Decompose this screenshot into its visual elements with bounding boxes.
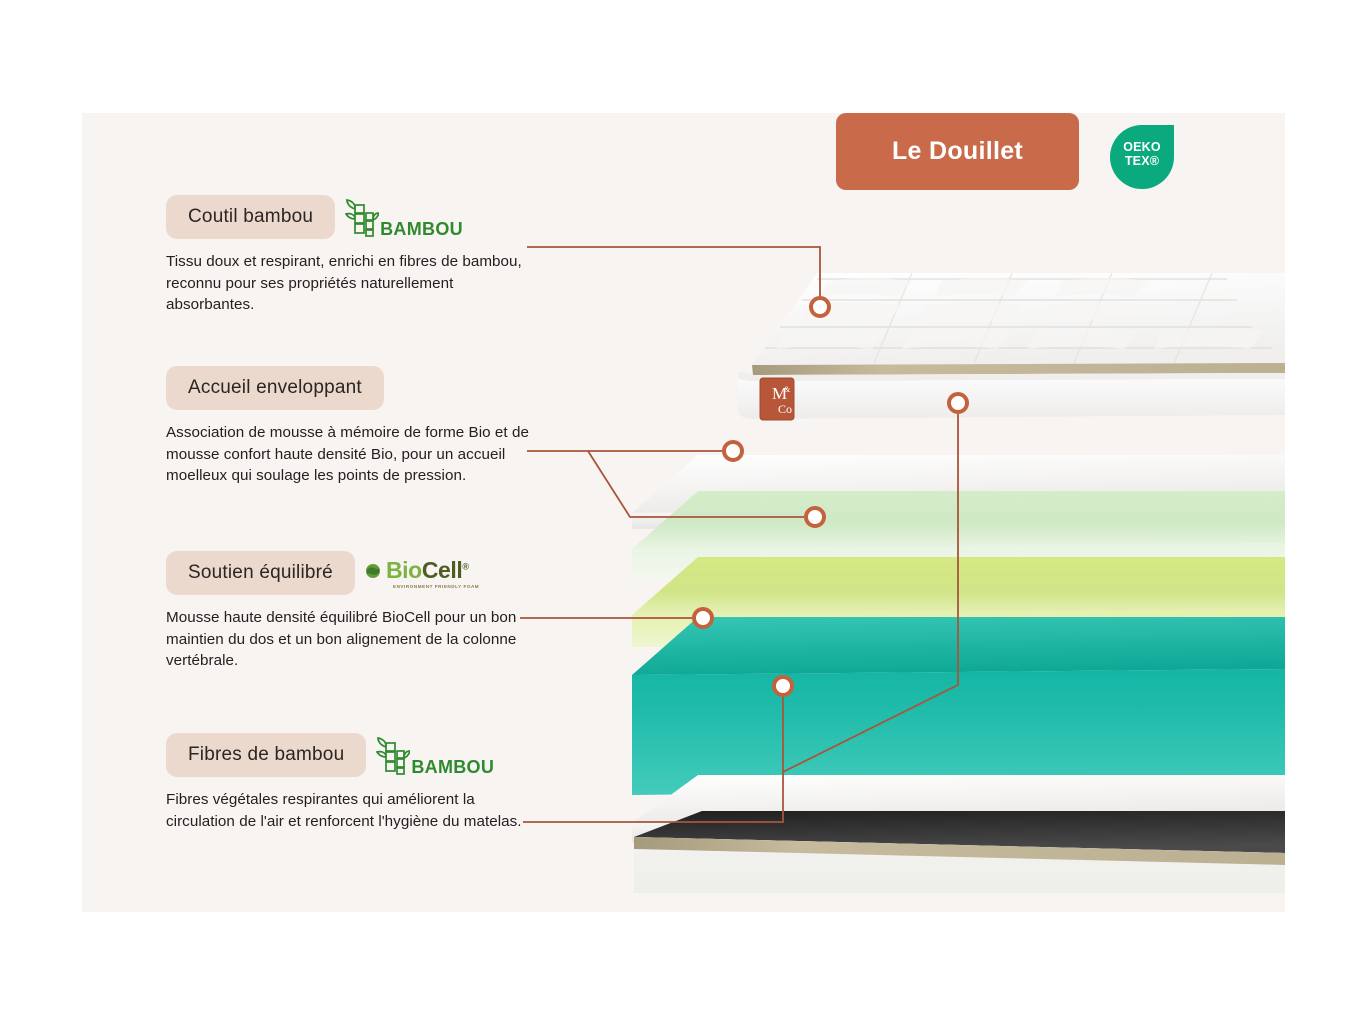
oeko-tex-text: OEKO TEX®: [1110, 125, 1174, 189]
marker-dot-bamboo-fibre: [772, 675, 794, 697]
bambou-label: BAMBOU: [411, 758, 494, 776]
marker-dot-comfort-foam: [804, 506, 826, 528]
feature-3-header: Soutien équilibré BioCell® ENVIRONMENT F…: [166, 551, 536, 595]
feature-4-header: Fibres de bambou BAMBOU: [166, 733, 536, 777]
feature-coutil-bambou: Coutil bambou BAMBOU: [166, 195, 536, 316]
feature-1-header: Coutil bambou BAMBOU: [166, 195, 536, 239]
feature-2-chip[interactable]: Accueil enveloppant: [166, 366, 384, 410]
marker-dot-biocell: [692, 607, 714, 629]
biocell-icon: BioCell® ENVIRONMENT FRIENDLY FOAM: [365, 559, 479, 589]
bamboo-stalk-icon: [345, 199, 379, 239]
layer-mattress-base: [634, 811, 1285, 893]
feature-3-description: Mousse haute densité équilibré BioCell p…: [166, 607, 536, 672]
mattress-layers-illustration: M & Co: [612, 223, 1285, 893]
feature-1-chip[interactable]: Coutil bambou: [166, 195, 335, 239]
product-title: Le Douillet: [892, 137, 1023, 166]
marker-dot-coutil-bambou: [809, 296, 831, 318]
product-title-badge: Le Douillet: [836, 113, 1079, 190]
feature-1-description: Tissu doux et respirant, enrichi en fibr…: [166, 251, 536, 316]
feature-4-description: Fibres végétales respirantes qui amélior…: [166, 789, 536, 832]
biocell-globe-icon: [365, 563, 381, 579]
bambou-icon: BAMBOU: [345, 199, 463, 239]
marker-dot-memory-foam: [722, 440, 744, 462]
feature-fibres-de-bambou: Fibres de bambou BAMBOU: [166, 733, 536, 832]
mattress-infographic-panel: Le Douillet OEKO TEX®: [82, 113, 1285, 912]
marker-dot-white-sheet: [947, 392, 969, 414]
feature-2-description: Association de mousse à mémoire de forme…: [166, 422, 536, 487]
biocell-tagline: ENVIRONMENT FRIENDLY FOAM: [393, 584, 479, 589]
feature-2-header: Accueil enveloppant: [166, 366, 536, 410]
oeko-tex-icon: OEKO TEX®: [1110, 125, 1174, 189]
svg-text:Co: Co: [778, 402, 792, 416]
feature-soutien-equilibre: Soutien équilibré BioCell® ENVIRONMENT F…: [166, 551, 536, 672]
bambou-icon-2: BAMBOU: [376, 737, 494, 777]
feature-3-chip[interactable]: Soutien équilibré: [166, 551, 355, 595]
bamboo-stalk-icon: [376, 737, 410, 777]
brand-tag: M & Co: [760, 378, 794, 420]
oeko-tex-line1: OEKO: [1123, 141, 1161, 155]
bambou-label: BAMBOU: [380, 220, 463, 238]
feature-4-chip[interactable]: Fibres de bambou: [166, 733, 366, 777]
layer-biocell-core: [632, 617, 1285, 795]
oeko-tex-line2: TEX®: [1125, 155, 1159, 169]
biocell-wordmark: BioCell®: [386, 559, 469, 582]
svg-text:&: &: [784, 385, 791, 394]
feature-accueil-enveloppant: Accueil enveloppant Association de mouss…: [166, 366, 536, 487]
biocell-logo-row: BioCell®: [365, 559, 479, 582]
